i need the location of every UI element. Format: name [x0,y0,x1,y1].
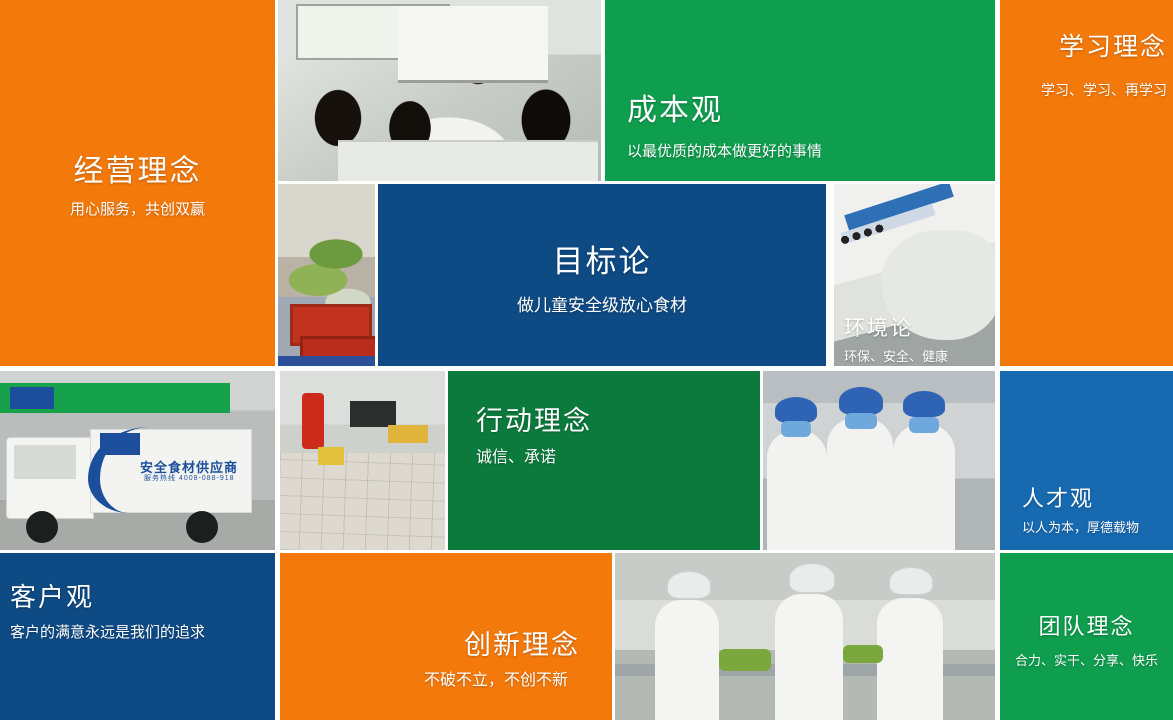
photo-kitchen [280,371,445,550]
card-goal-title: 目标论 [378,236,826,281]
worker-body-shape [655,600,719,720]
worker-cap-shape [775,397,817,423]
card-customer[interactable]: 客户观 客户的满意永远是我们的追求 [0,553,275,720]
worker-body-shape [775,594,843,720]
card-cost-title: 成本观 [627,85,723,129]
card-business-title: 经营理念 [0,146,275,190]
card-talent-title: 人才观 [1022,481,1094,513]
store-banner-shape [0,383,230,413]
card-customer-title: 客户观 [10,577,94,614]
meeting-table-shape [338,140,598,181]
photo-kitchen2 [615,553,995,720]
card-action[interactable]: 行动理念 诚信、承诺 [448,371,760,550]
worker-mask-shape [909,417,939,433]
card-team-title: 团队理念 [1000,609,1173,641]
worker-cap-shape [667,571,711,599]
card-study[interactable]: 学习理念 学习、学习、再学习 [1000,0,1173,366]
worker-body-shape [877,598,943,720]
card-environment-subtitle: 环保、安全、健康 [844,346,948,365]
card-study-subtitle: 学习、学习、再学习 [1000,80,1167,100]
card-customer-subtitle: 客户的满意永远是我们的追求 [10,621,205,642]
blue-pallet-shape [278,356,375,366]
culture-wall: 经营理念 用心服务，共创双赢 成本观 以最优质的成本做更好的事情 学习理念 学习… [0,0,1173,720]
card-innovation-subtitle: 不破不立，不创不新 [280,666,568,690]
vegetable-pile-shape [843,645,883,663]
worker-mask-shape [845,413,877,429]
truck-window-shape [14,445,76,479]
worker-mask-shape [781,421,811,437]
card-action-title: 行动理念 [476,399,592,438]
wall-monitor-shape [350,401,396,427]
tiled-floor-shape [280,453,445,550]
yellow-box-shape [388,425,428,443]
photo-lab: 环境论 环保、安全、健康 [834,184,995,366]
card-talent-subtitle: 以人为本，厚德载物 [1022,517,1139,536]
photo-truck: 安全食材供应商 服务热线 4008-088-918 [0,371,275,550]
truck-logo-shape [100,433,140,455]
fire-extinguisher-shape [302,393,324,449]
worker-cap-shape [789,563,835,593]
photo-kitchen-image [280,371,445,550]
projector-screen-shape [398,6,548,83]
worker-cap-shape [839,387,883,415]
card-cost[interactable]: 成本观 以最优质的成本做更好的事情 [605,0,995,181]
card-business-subtitle: 用心服务，共创双赢 [0,198,275,219]
photo-vegetables-image [278,184,375,366]
card-innovation[interactable]: 创新理念 不破不立，不创不新 [280,553,612,720]
card-cost-subtitle: 以最优质的成本做更好的事情 [627,140,822,161]
vegetable-pile-shape [719,649,771,671]
photo-vegetables [278,184,375,366]
worker-body-shape [767,430,827,550]
worker-body-shape [893,424,955,550]
card-innovation-title: 创新理念 [280,623,580,662]
truck-wheel-shape [26,511,58,543]
card-environment-title: 环境论 [844,312,913,342]
worker-body-shape [827,418,893,550]
truck-wheel-shape [186,511,218,543]
card-goal[interactable]: 目标论 做儿童安全级放心食材 [378,184,826,366]
photo-workers [763,371,995,550]
worker-cap-shape [889,567,933,595]
photo-workers-image [763,371,995,550]
brand-logo-shape [10,387,54,409]
truck-hotline: 服务热线 4008-088-918 [144,473,235,483]
photo-meeting [278,0,601,181]
worker-cap-shape [903,391,945,417]
card-action-subtitle: 诚信、承诺 [476,443,556,467]
photo-truck-image: 安全食材供应商 服务热线 4008-088-918 [0,371,275,550]
card-team[interactable]: 团队理念 合力、实干、分享、快乐 [1000,553,1173,720]
card-goal-subtitle: 做儿童安全级放心食材 [378,291,826,316]
yellow-bin-shape [318,447,344,465]
card-business[interactable]: 经营理念 用心服务，共创双赢 [0,0,275,366]
card-talent[interactable]: 人才观 以人为本，厚德载物 [1000,371,1173,550]
card-environment[interactable]: 环境论 环保、安全、健康 [834,184,995,366]
photo-meeting-image [278,0,601,181]
photo-kitchen2-image [615,553,995,720]
card-study-title: 学习理念 [1000,27,1167,63]
card-team-subtitle: 合力、实干、分享、快乐 [1000,650,1173,669]
